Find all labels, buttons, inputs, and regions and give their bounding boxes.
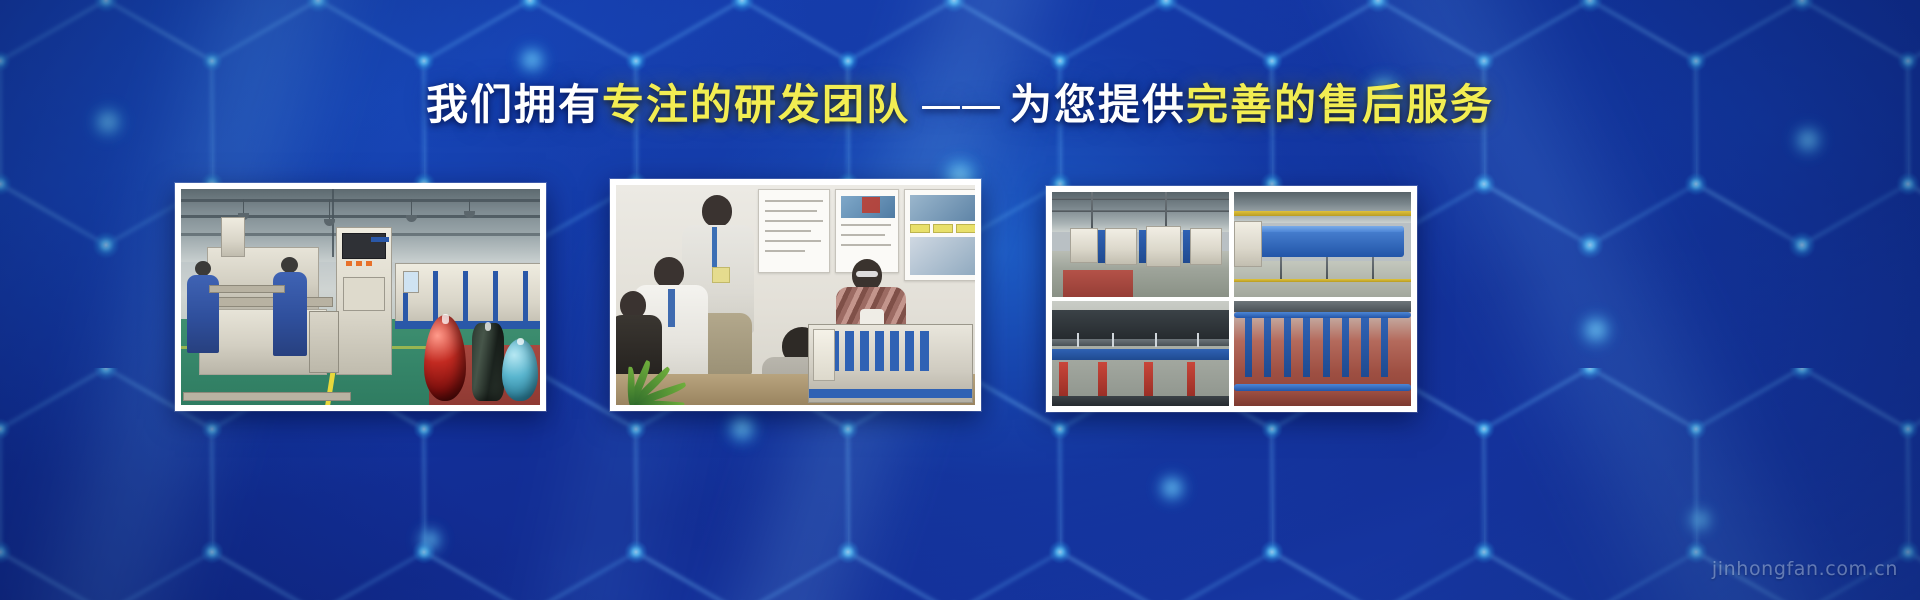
headline-accent-1: 专注的研发团队 [602,80,910,129]
banner-headline: 我们拥有专注的研发团队——为您提供完善的售后服务 [0,84,1920,126]
collage-cell-top-right [1234,192,1411,297]
production-workshop-image [181,189,540,405]
headline-accent-2: 完善的售后服务 [1186,80,1494,129]
headline-segment-1: 我们拥有 [426,80,602,129]
collage-cell-top-left [1052,192,1229,297]
collage-cell-bottom-left [1052,301,1229,406]
panel-production-workshop[interactable] [175,183,546,411]
headline-separator: —— [910,84,1010,126]
panel-equipment-collage[interactable] [1046,186,1417,412]
collage-cell-bottom-right [1234,301,1411,406]
panel-team-meeting[interactable] [610,179,981,411]
site-watermark: jinhongfan.com.cn [1712,558,1898,580]
equipment-collage-image [1052,192,1411,406]
team-meeting-image [616,185,975,405]
headline-segment-2: 为您提供 [1010,80,1186,129]
promo-banner: 我们拥有专注的研发团队——为您提供完善的售后服务 [0,0,1920,600]
